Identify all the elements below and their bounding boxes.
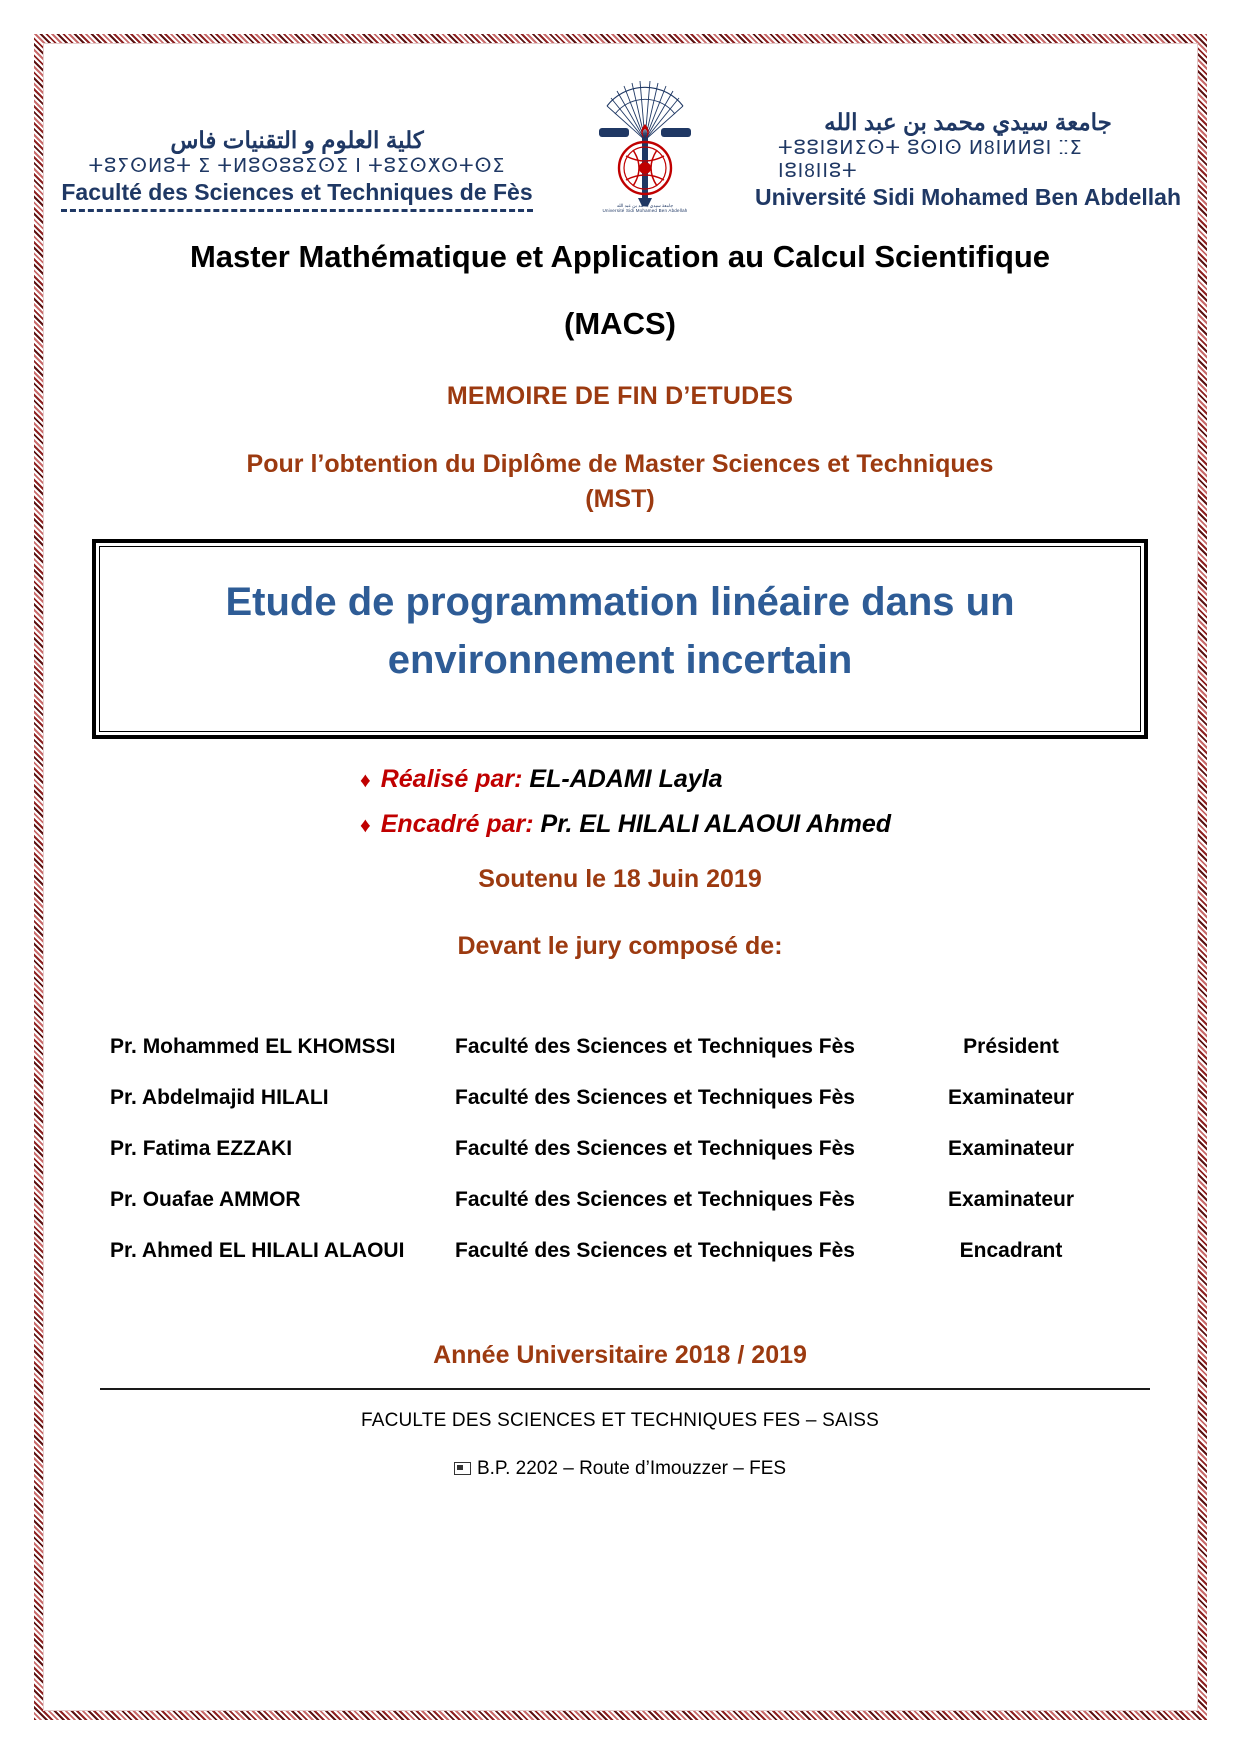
people-list: ♦Réalisé par: EL-ADAMI Layla ♦Encadré pa… (60, 765, 1180, 839)
list-item: ♦Encadré par: Pr. EL HILALI ALAOUI Ahmed (360, 810, 1180, 839)
obtention-label: Pour l’obtention du Diplôme de Master Sc… (60, 447, 1180, 517)
academic-year: Année Universitaire 2018 / 2019 (60, 1341, 1180, 1370)
table-row: Pr. Abdelmajid HILALI Faculté des Scienc… (110, 1086, 1152, 1110)
footer-institution: FACULTE DES SCIENCES ET TECHNIQUES FES –… (60, 1410, 1180, 1432)
supervisor-name: Pr. EL HILALI ALAOUI Ahmed (541, 810, 892, 838)
faculty-logo: كلية العلوم و التقنيات فاس ⵜⵓⵢⵙⵍⵓⵜ ⵉ ⵜⵍⵓ… (82, 126, 512, 212)
jury-member-role: Examinateur (870, 1188, 1152, 1212)
jury-member-name: Pr. Mohammed EL KHOMSSI (110, 1035, 440, 1059)
faculty-name-french: Faculté des Sciences et Techniques de Fè… (61, 179, 532, 212)
university-emblem-icon: جامعة سيدي محمد بن عبد الله Université S… (593, 62, 698, 212)
jury-member-affiliation: Faculté des Sciences et Techniques Fès (440, 1239, 870, 1263)
obtention-text: Pour l’obtention du Diplôme de Master Sc… (247, 450, 994, 478)
list-item: ♦Réalisé par: EL-ADAMI Layla (360, 765, 1180, 794)
footer-address: B.P. 2202 – Route d’Imouzzer – FES (477, 1458, 786, 1479)
thesis-title-box-inner: Etude de programmation linéaire dans un … (99, 546, 1141, 732)
jury-member-name: Pr. Abdelmajid HILALI (110, 1086, 440, 1110)
thesis-title: Etude de programmation linéaire dans un … (126, 573, 1114, 689)
author-name: EL-ADAMI Layla (529, 765, 722, 793)
faculty-name-tifinagh: ⵜⵓⵢⵙⵍⵓⵜ ⵉ ⵜⵍⵓⵙⵓⵓⵉⵙⵉ ⵏ ⵜⵓⵉⵙⵅⵙⵜⵙⵉ (89, 156, 506, 179)
jury-member-affiliation: Faculté des Sciences et Techniques Fès (440, 1035, 870, 1059)
university-logo: جامعة سيدي محمد بن عبد الله ⵜⵓⵓⵏⵓⵍⵉⵙⵜ ⵓⵙ… (778, 108, 1158, 212)
page-content: كلية العلوم و التقنيات فاس ⵜⵓⵢⵙⵍⵓⵜ ⵉ ⵜⵍⵓ… (60, 52, 1180, 1702)
jury-member-role: Encadrant (870, 1239, 1152, 1263)
jury-member-affiliation: Faculté des Sciences et Techniques Fès (440, 1086, 870, 1110)
jury-member-name: Pr. Ouafae AMMOR (110, 1188, 440, 1212)
thesis-title-box: Etude de programmation linéaire dans un … (92, 539, 1148, 739)
memoire-label: MEMOIRE DE FIN D’ETUDES (60, 382, 1180, 411)
table-row: Pr. Ahmed EL HILALI ALAOUI Faculté des S… (110, 1239, 1152, 1263)
university-name-french: Université Sidi Mohamed Ben Abdellah (755, 184, 1181, 212)
table-row: Pr. Fatima EZZAKI Faculté des Sciences e… (110, 1137, 1152, 1161)
header: كلية العلوم و التقنيات فاس ⵜⵓⵢⵙⵍⵓⵜ ⵉ ⵜⵍⵓ… (60, 52, 1180, 212)
university-name-tifinagh: ⵜⵓⵓⵏⵓⵍⵉⵙⵜ ⵓⵙⵏⵙ ⵍ8ⵏⵍⵍⵓⵏ ⵆⵉ ⵏⵓⵏ8ⵏⵏⵓⵜ (778, 138, 1158, 184)
jury-member-affiliation: Faculté des Sciences et Techniques Fès (440, 1137, 870, 1161)
jury-heading: Devant le jury composé de: (60, 932, 1180, 961)
jury-member-affiliation: Faculté des Sciences et Techniques Fès (440, 1188, 870, 1212)
diamond-bullet-icon: ♦ (360, 814, 371, 837)
mail-icon (454, 1462, 471, 1475)
table-row: Pr. Mohammed EL KHOMSSI Faculté des Scie… (110, 1035, 1152, 1059)
diamond-bullet-icon: ♦ (360, 769, 371, 792)
jury-member-role: Examinateur (870, 1137, 1152, 1161)
footer-divider (100, 1388, 1150, 1390)
emblem-caption: جامعة سيدي محمد بن عبد الله Université S… (593, 203, 698, 214)
jury-member-name: Pr. Ahmed EL HILALI ALAOUI (110, 1239, 440, 1263)
supervisor-label: Encadré par: (381, 810, 534, 838)
footer-address-line: B.P. 2202 – Route d’Imouzzer – FES (60, 1458, 1180, 1480)
author-label: Réalisé par: (381, 765, 523, 793)
obtention-abbr: (MST) (60, 482, 1180, 517)
jury-member-role: Président (870, 1035, 1152, 1059)
master-program-abbr: (MACS) (60, 306, 1180, 342)
master-program-title: Master Mathématique et Application au Ca… (60, 240, 1180, 274)
jury-member-role: Examinateur (870, 1086, 1152, 1110)
university-name-arabic: جامعة سيدي محمد بن عبد الله (824, 108, 1112, 137)
jury-table: Pr. Mohammed EL KHOMSSI Faculté des Scie… (60, 1035, 1180, 1263)
faculty-name-arabic: كلية العلوم و التقنيات فاس (170, 126, 423, 155)
defense-date: Soutenu le 18 Juin 2019 (60, 865, 1180, 894)
table-row: Pr. Ouafae AMMOR Faculté des Sciences et… (110, 1188, 1152, 1212)
jury-member-name: Pr. Fatima EZZAKI (110, 1137, 440, 1161)
